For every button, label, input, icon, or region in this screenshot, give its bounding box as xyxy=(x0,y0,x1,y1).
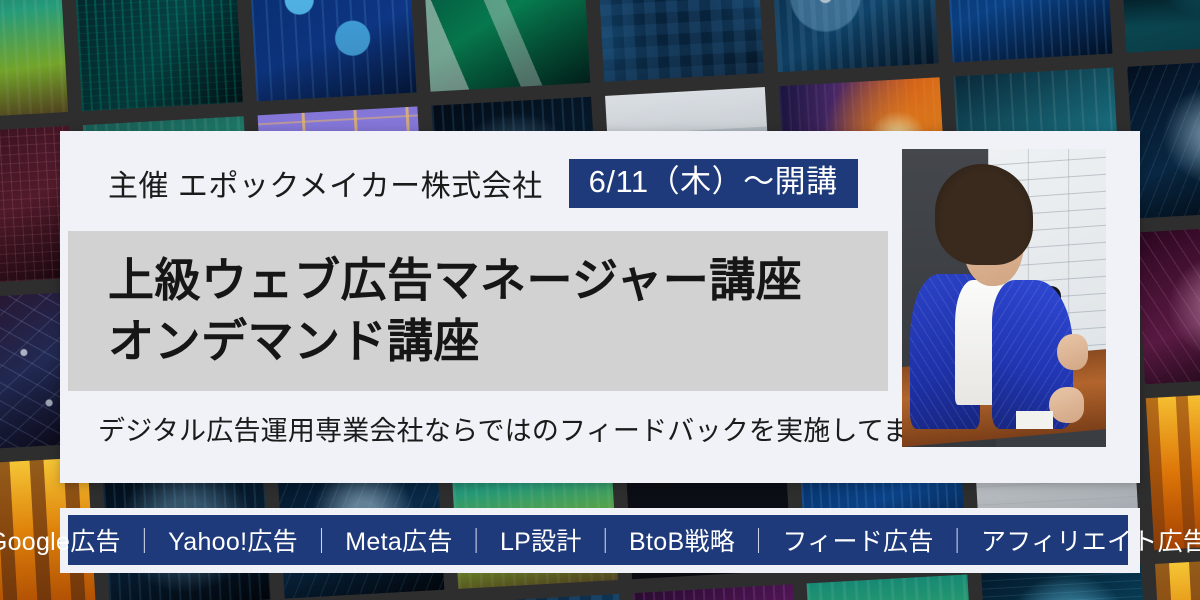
tag-item: Meta広告 xyxy=(343,522,454,558)
course-title-line-2: オンデマンド講座 xyxy=(108,311,888,372)
tag-item: LP設計 xyxy=(498,522,584,558)
collage-tile xyxy=(422,0,590,92)
tag-list: Google広告｜Yahoo!広告｜Meta広告｜LP設計｜BtoB戦略｜フィー… xyxy=(0,522,1200,558)
subtitle-text: デジタル広告運用専業会社ならではのフィードバックを実施してます xyxy=(98,409,937,448)
photo-paper xyxy=(1016,411,1053,429)
banner-stage: 主催 エポックメイカー株式会社 6/11（木）〜開講 上級ウェブ広告マネージャー… xyxy=(0,0,1200,600)
tag-separator: ｜ xyxy=(123,522,166,558)
collage-tile xyxy=(248,0,416,101)
instructor-photo xyxy=(902,149,1106,447)
tag-item: Google広告 xyxy=(0,522,123,558)
main-card: 主催 エポックメイカー株式会社 6/11（木）〜開講 上級ウェブ広告マネージャー… xyxy=(60,131,1140,483)
tag-item: フィード広告 xyxy=(780,522,935,558)
collage-tile xyxy=(633,584,801,600)
collage-tile xyxy=(0,0,68,121)
course-title-line-1: 上級ウェブ広告マネージャー講座 xyxy=(108,250,888,311)
collage-tile xyxy=(1155,555,1200,600)
photo-hair xyxy=(935,164,1033,265)
collage-tile xyxy=(1118,0,1200,53)
tag-item: Yahoo!広告 xyxy=(166,522,300,558)
start-date-badge: 6/11（木）〜開講 xyxy=(569,159,858,208)
photo-hand-lower xyxy=(1049,387,1084,423)
tag-separator: ｜ xyxy=(300,522,343,558)
collage-tile xyxy=(770,0,938,72)
tag-separator: ｜ xyxy=(455,522,498,558)
host-label: 主催 エポックメイカー株式会社 xyxy=(108,161,543,205)
tag-separator: ｜ xyxy=(737,522,780,558)
collage-tile xyxy=(807,574,975,600)
tag-item: BtoB戦略 xyxy=(627,522,737,558)
tag-separator: ｜ xyxy=(936,522,979,558)
photo-hand-upper xyxy=(1057,334,1088,370)
tag-strip: Google広告｜Yahoo!広告｜Meta広告｜LP設計｜BtoB戦略｜フィー… xyxy=(60,508,1140,573)
collage-tile xyxy=(459,594,627,600)
tag-bar: Google広告｜Yahoo!広告｜Meta広告｜LP設計｜BtoB戦略｜フィー… xyxy=(68,515,1128,565)
collage-tile xyxy=(74,0,242,111)
tag-item: アフィリエイト広告 xyxy=(979,522,1200,558)
tag-separator: ｜ xyxy=(584,522,627,558)
collage-tile xyxy=(1136,224,1200,385)
card-header: 主催 エポックメイカー株式会社 6/11（木）〜開講 xyxy=(108,159,858,208)
collage-tile xyxy=(596,0,764,82)
title-band: 上級ウェブ広告マネージャー講座 オンデマンド講座 xyxy=(68,231,888,391)
collage-tile xyxy=(944,0,1112,63)
